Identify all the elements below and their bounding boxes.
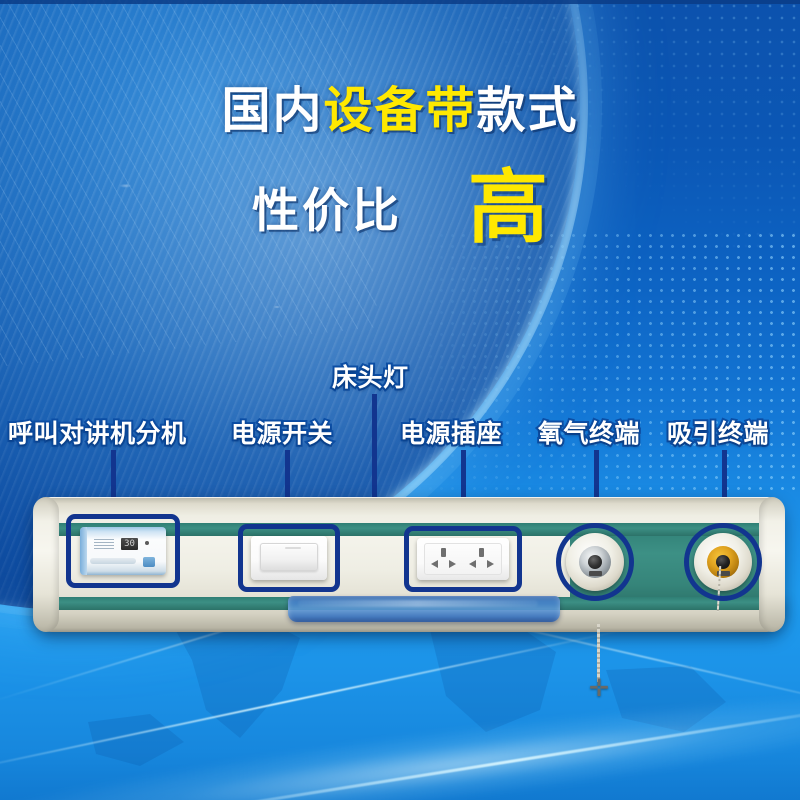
highlight-box-power-socket: [404, 526, 522, 592]
top-edge-bar: [0, 0, 800, 4]
highlight-circle-oxygen: [556, 523, 634, 601]
panel-endcap-left: [33, 497, 59, 632]
highlight-box-power-switch: [238, 524, 340, 592]
callout-label-oxygen: 氧气终端: [538, 414, 640, 450]
highlight-box-intercom: [66, 514, 180, 588]
callout-label-suction: 吸引终端: [667, 414, 769, 450]
headline-part-1: 国内: [221, 82, 323, 139]
callout-label-intercom: 呼叫对讲机分机: [8, 414, 187, 450]
highlight-circle-suction: [684, 523, 762, 601]
headline-line-1: 国内设备带款式: [0, 86, 800, 135]
bed-lamp-gloss: [298, 600, 538, 607]
callout-label-bed-lamp: 床头灯: [332, 358, 409, 394]
headline-emphasis: 高: [468, 170, 548, 246]
halftone-dots-right: [370, 230, 800, 490]
headline-block: 国内设备带款式: [0, 86, 800, 135]
headline-line-2: 性价比 高: [0, 168, 800, 244]
product-banner: 国内设备带款式 性价比 高 呼叫对讲机分机 电源开关 床头灯 电源插座 氧气终端…: [0, 0, 800, 800]
pull-cord-handle-icon[interactable]: ✛: [586, 677, 612, 699]
headline-part-2: 设备带: [323, 82, 476, 139]
panel-endcap-right: [759, 497, 785, 632]
headline-subtitle: 性价比: [252, 172, 402, 241]
callout-label-power-switch: 电源开关: [231, 414, 333, 450]
callout-label-power-socket: 电源插座: [400, 414, 502, 450]
bed-lamp[interactable]: [288, 596, 560, 622]
headline-part-3: 款式: [477, 82, 579, 139]
